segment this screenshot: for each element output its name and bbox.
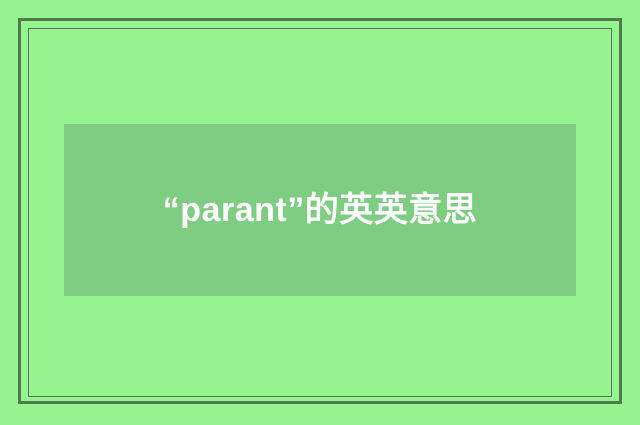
poster-canvas: “parant”的英英意思 bbox=[0, 0, 640, 425]
headline-banner: “parant”的英英意思 bbox=[64, 124, 576, 296]
page-title: “parant”的英英意思 bbox=[155, 183, 485, 237]
